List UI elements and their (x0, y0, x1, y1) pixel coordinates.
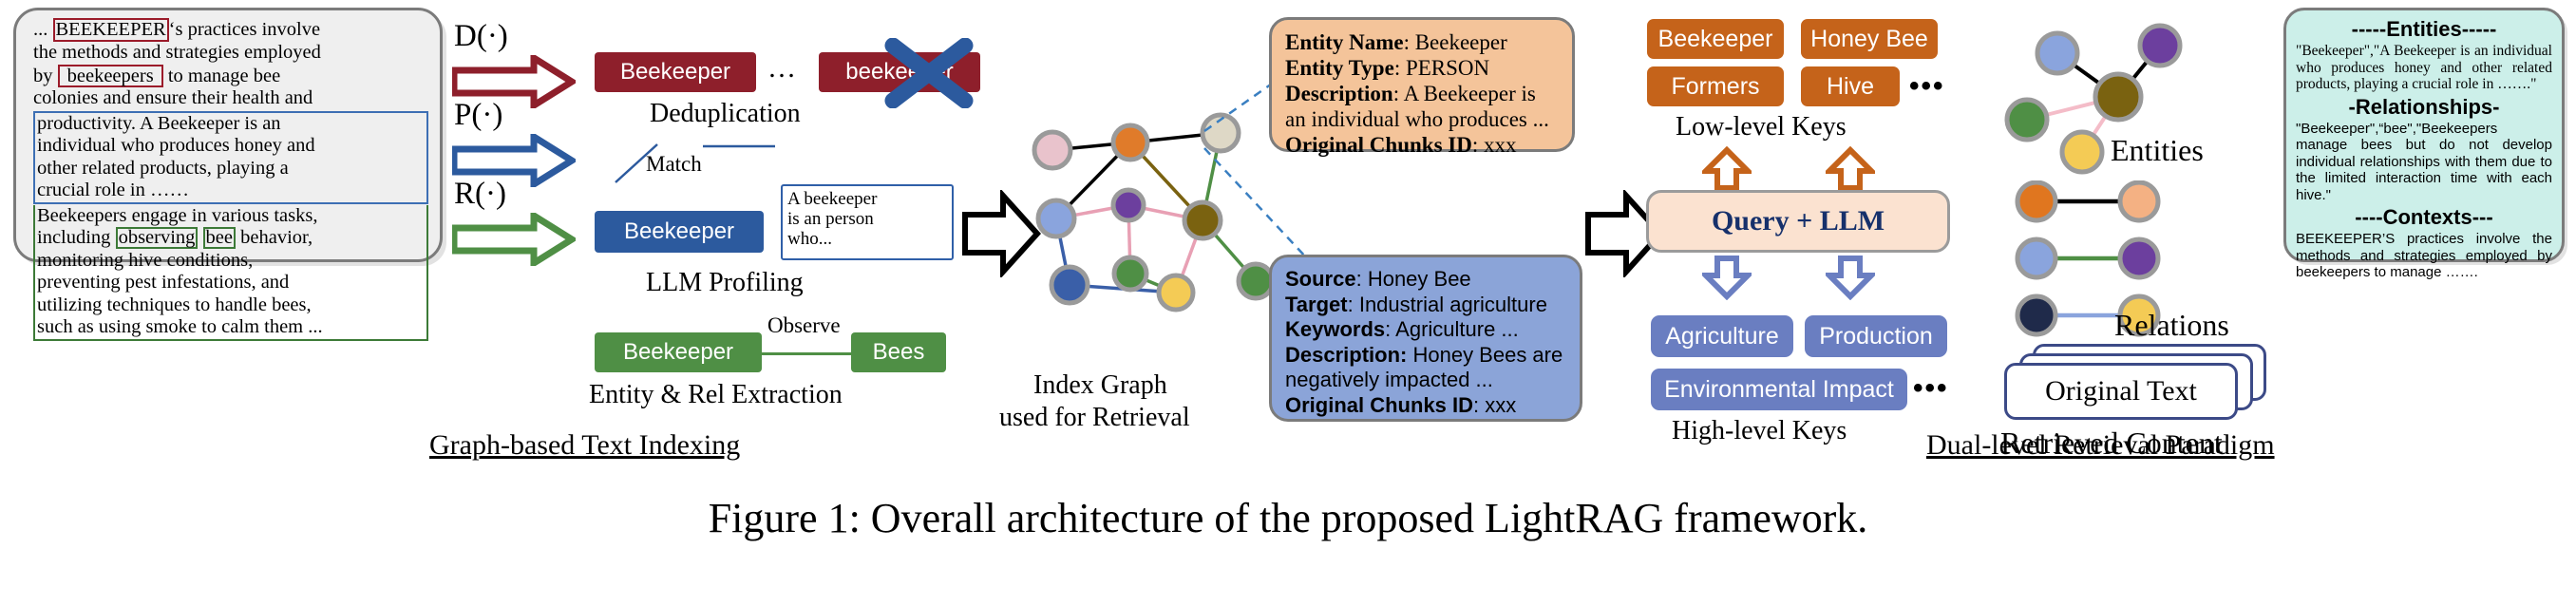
dedup-ellipsis: … (767, 52, 796, 85)
cross-out-icon (883, 38, 975, 108)
profile-callout: A beekeeper is an person who... (781, 184, 954, 260)
highlight-block-profile: productivity. A Beekeeper is an individu… (33, 111, 428, 204)
source-line1-suffix: ‘s practices involve (169, 19, 320, 40)
arrow-extract-icon (452, 213, 576, 266)
source-line-11: monitoring hive conditions, (37, 250, 425, 273)
chip-dedup-left: Beekeeper (595, 52, 756, 92)
index-graph-label-line1: Index Graph (1033, 370, 1167, 401)
source-line10-suffix: behavior, (236, 227, 313, 248)
entity-desc-cont: an individual who produces ... (1285, 106, 1559, 132)
source-line-5: productivity. A Beekeeper is an (37, 113, 425, 136)
source-line10-prefix: including (37, 227, 116, 248)
entity-desc-row: Description: A Beekeeper is (1285, 81, 1559, 106)
entity-desc-value: : A Beekeeper is (1393, 82, 1536, 105)
original-text-card-front: Original Text (2004, 363, 2238, 420)
callout-line-2: is an person (787, 209, 947, 229)
relation-keywords-key: Keywords (1285, 317, 1385, 341)
relation-source-key: Source (1285, 267, 1356, 291)
low-level-key-honey-bee: Honey Bee (1801, 19, 1938, 59)
source-line-3: by beekeepers to manage bee (33, 65, 428, 88)
arrow-up-low-level-1-icon (1702, 146, 1752, 192)
low-level-keys-ellipsis: ••• (1909, 70, 1945, 103)
entity-name-row: Entity Name: Beekeeper (1285, 29, 1559, 55)
high-level-key-production: Production (1805, 315, 1947, 357)
relation-info-card: Source: Honey Bee Target: Industrial agr… (1269, 255, 1582, 422)
relation-target-value: : Industrial agriculture (1348, 293, 1547, 316)
source-line3-suffix: to manage bee (163, 66, 281, 86)
relation-target-row: Target: Industrial agriculture (1285, 293, 1566, 318)
entity-desc-key: Description (1285, 82, 1393, 105)
entity-chunks-key: Original Chunks ID (1285, 133, 1472, 157)
high-level-keys-ellipsis: ••• (1913, 372, 1949, 405)
relation-chunks-row: Original Chunks ID: xxx (1285, 393, 1566, 419)
callout-line-3: who... (787, 229, 947, 249)
entity-rel-extraction-label: Entity & Rel Extraction (589, 380, 843, 410)
relation-source-row: Source: Honey Bee (1285, 267, 1566, 293)
high-level-key-agriculture: Agriculture (1651, 315, 1793, 357)
result-relationships-header: -Relationships- (2296, 95, 2552, 120)
source-line-1: ... BEEKEEPER‘s practices involve (33, 18, 428, 42)
source-line-14: such as using smoke to calm them ... (37, 316, 425, 339)
high-level-keys-label: High-level Keys (1672, 416, 1847, 446)
chip-extract-right: Bees (851, 332, 946, 372)
relation-chunks-key: Original Chunks ID (1285, 393, 1473, 417)
entity-info-card: Entity Name: Beekeeper Entity Type: PERS… (1269, 17, 1575, 152)
result-entities-header: -----Entities----- (2296, 17, 2552, 42)
relation-desc-key: Description: (1285, 343, 1407, 367)
index-graph-label-line2: used for Retrieval (999, 403, 1190, 433)
source-line-6: individual who produces honey and (37, 135, 425, 158)
operator-dedup-label: D(·) (454, 19, 508, 54)
relation-chunks-value: : xxx (1473, 393, 1516, 417)
chip-extract-left: Beekeeper (595, 332, 762, 372)
graph-based-text-indexing-label: Graph-based Text Indexing (429, 429, 740, 462)
result-contexts-header: ----Contexts--- (2296, 205, 2552, 230)
source-document-text: ... BEEKEEPER‘s practices involve the me… (33, 18, 428, 341)
entity-name-value: : Beekeeper (1404, 30, 1507, 54)
extraction-edge-label: Observe (767, 313, 841, 338)
arrow-down-high-level-2-icon (1826, 255, 1875, 300)
result-relationships-body: "Beekeeper",“bee","Beekeepers manage bee… (2296, 121, 2552, 204)
source-line-4: colonies and ensure their health and (33, 87, 428, 110)
highlight-beekeepers: beekeepers (58, 65, 163, 87)
entity-chunks-row: Original Chunks ID: xxx (1285, 132, 1559, 158)
entity-type-value: : PERSON (1394, 56, 1489, 80)
query-llm-label: Query + LLM (1712, 205, 1885, 237)
result-entities-body: "Beekeeper","A Beekeeper is an individua… (2296, 43, 2552, 93)
source-line-13: utilizing techniques to handle bees, (37, 294, 425, 317)
source-document-panel: ... BEEKEEPER‘s practices involve the me… (13, 8, 443, 262)
original-text-label: Original Text (2045, 375, 2197, 407)
source-line-12: preventing pest infestations, and (37, 272, 425, 294)
chip-profile-entity: Beekeeper (595, 211, 764, 253)
deduplication-label: Deduplication (650, 99, 801, 129)
entity-name-key: Entity Name (1285, 30, 1404, 54)
entities-label: Entities (2111, 133, 2204, 168)
source-line1-prefix: ... (33, 19, 53, 40)
relation-desc-row: Description: Honey Bees are (1285, 343, 1566, 369)
relations-label: Relations (2114, 308, 2229, 343)
relation-desc-value: Honey Bees are (1407, 343, 1563, 367)
query-llm-box[interactable]: Query + LLM (1646, 190, 1950, 253)
source-line-2: the methods and strategies employed (33, 42, 428, 65)
highlight-observing: observing (116, 227, 199, 249)
retrieval-result-panel: -----Entities----- "Beekeeper","A Beekee… (2283, 8, 2565, 262)
source-line-10: including observing bee behavior, (37, 227, 425, 250)
operator-profile-label: P(·) (454, 98, 502, 133)
relation-source-value: : Honey Bee (1356, 267, 1471, 291)
arrow-up-low-level-2-icon (1826, 146, 1875, 192)
highlight-block-extraction: Beekeepers engage in various tasks, incl… (33, 205, 428, 341)
relation-keywords-row: Keywords: Agriculture ... (1285, 317, 1566, 343)
result-contexts-body: BEEKEEPER’S practices involve the method… (2296, 231, 2552, 281)
dual-level-retrieval-paradigm-label: Dual-level Retrieval Paradigm (1926, 429, 2275, 462)
figure-caption: Figure 1: Overall architecture of the pr… (0, 494, 2576, 542)
arrow-down-high-level-1-icon (1702, 255, 1752, 300)
low-level-key-formers: Formers (1647, 66, 1784, 106)
high-level-key-environmental-impact: Environmental Impact (1651, 369, 1907, 410)
source-line3-prefix: by (33, 66, 58, 86)
low-level-key-hive: Hive (1801, 66, 1900, 106)
relation-target-key: Target (1285, 293, 1348, 316)
source-line-8: crucial role in …… (37, 180, 425, 202)
extraction-edge-line (762, 352, 853, 355)
callout-line-1: A beekeeper (787, 189, 947, 209)
low-level-keys-label: Low-level Keys (1676, 112, 1847, 142)
operator-extract-label: R(·) (454, 177, 506, 212)
entity-type-key: Entity Type (1285, 56, 1394, 80)
relation-desc-cont: negatively impacted ... (1285, 368, 1566, 393)
entity-chunks-value: : xxx (1472, 133, 1517, 157)
highlight-beekeeper-caps: BEEKEEPER (53, 18, 169, 42)
highlight-bee: bee (203, 227, 236, 249)
source-line-7: other related products, playing a (37, 158, 425, 180)
match-connector-icon (608, 133, 779, 190)
llm-profiling-label: LLM Profiling (646, 268, 804, 298)
source-line-9: Beekeepers engage in various tasks, (37, 205, 425, 228)
low-level-key-beekeeper: Beekeeper (1647, 19, 1784, 59)
entity-type-row: Entity Type: PERSON (1285, 55, 1559, 81)
relation-keywords-value: : Agriculture ... (1385, 317, 1519, 341)
